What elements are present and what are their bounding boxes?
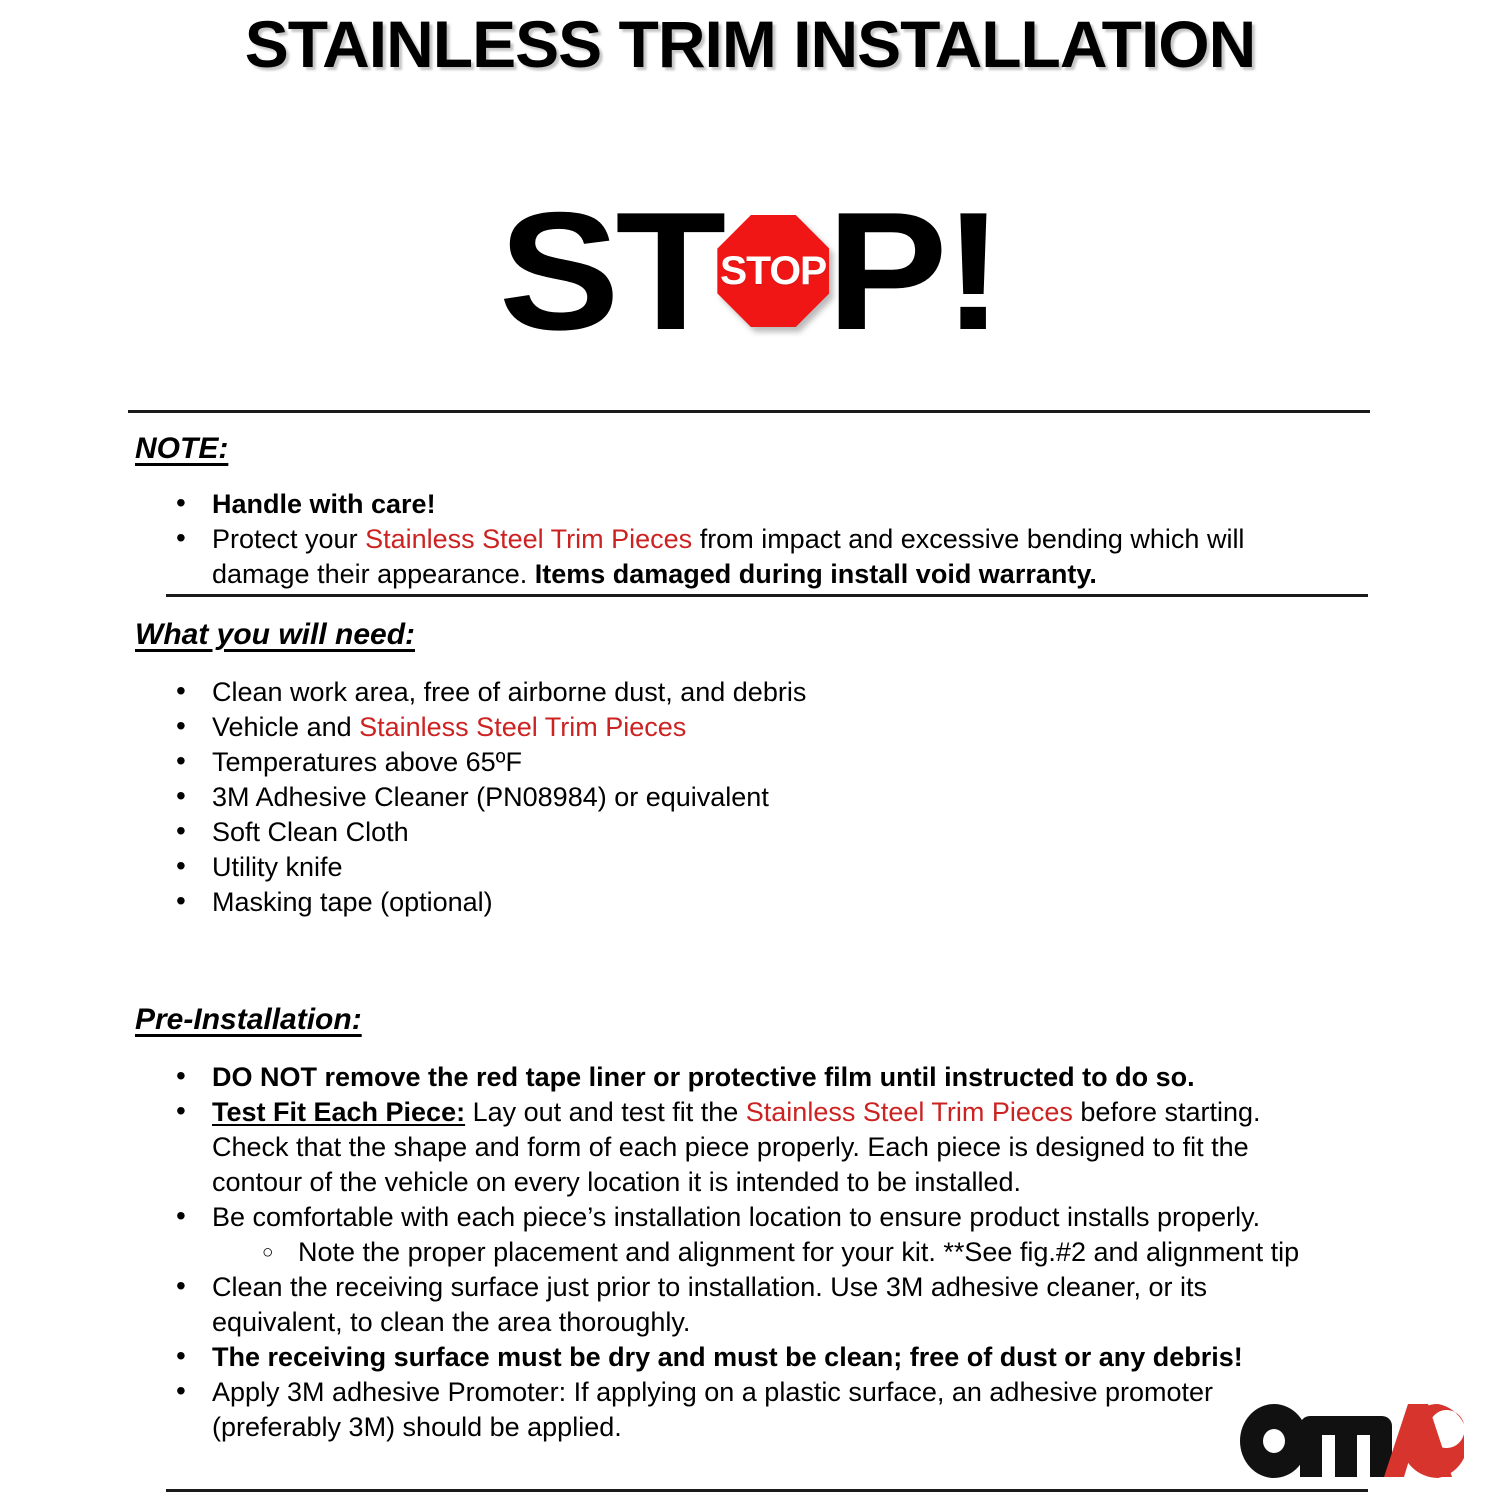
list-item: Vehicle and Stainless Steel Trim Pieces (0, 710, 1340, 745)
note-bullet-list: Handle with care!Protect your Stainless … (0, 487, 1340, 592)
heading-pre-installation: Pre-Installation: (135, 1003, 362, 1037)
highlight-text: Stainless Steel Trim Pieces (365, 524, 692, 554)
list-item: Be comfortable with each piece’s install… (0, 1200, 1340, 1270)
list-item: Handle with care! (0, 487, 1340, 522)
heading-what-you-will-need: What you will need: (135, 618, 415, 652)
list-item: Test Fit Each Piece: Lay out and test fi… (0, 1095, 1340, 1200)
list-item: The receiving surface must be dry and mu… (0, 1340, 1340, 1375)
body-text: Soft Clean Cloth (212, 817, 409, 847)
list-item: Apply 3M adhesive Promoter: If applying … (0, 1375, 1340, 1445)
body-text: Clean the receiving surface just prior t… (212, 1272, 1207, 1337)
list-item: Clean the receiving surface just prior t… (0, 1270, 1340, 1340)
emphasis-text: DO NOT remove the red tape liner or prot… (212, 1062, 1195, 1092)
emphasis-text: Items damaged during install void warran… (535, 559, 1097, 589)
list-item: 3M Adhesive Cleaner (PN08984) or equival… (0, 780, 1340, 815)
needs-bullet-list: Clean work area, free of airborne dust, … (0, 675, 1340, 920)
highlight-text: Stainless Steel Trim Pieces (359, 712, 686, 742)
stop-sign-label: STOP (720, 251, 826, 291)
list-item: DO NOT remove the red tape liner or prot… (0, 1060, 1340, 1095)
body-text: Lay out and test fit the (465, 1097, 746, 1127)
page-title: STAINLESS TRIM INSTALLATION (0, 8, 1500, 81)
divider-bottom (166, 1489, 1368, 1492)
sub-list-item: Note the proper placement and alignment … (212, 1235, 1340, 1270)
divider-note (166, 594, 1368, 597)
heading-note: NOTE: (135, 432, 228, 466)
body-text: Temperatures above 65ºF (212, 747, 522, 777)
emphasis-text: Test Fit Each Piece: (212, 1097, 465, 1127)
emphasis-text: The receiving surface must be dry and mu… (212, 1342, 1243, 1372)
preinstall-bullet-list: DO NOT remove the red tape liner or prot… (0, 1060, 1340, 1445)
body-text: Be comfortable with each piece’s install… (212, 1202, 1260, 1232)
highlight-text: Stainless Steel Trim Pieces (746, 1097, 1073, 1127)
emphasis-text: Handle with care! (212, 489, 436, 519)
list-item: Masking tape (optional) (0, 885, 1340, 920)
sub-bullet-list: Note the proper placement and alignment … (212, 1235, 1340, 1270)
list-item: Clean work area, free of airborne dust, … (0, 675, 1340, 710)
stop-sign-icon: STOP (717, 215, 829, 327)
divider-top (128, 410, 1370, 413)
list-item: Protect your Stainless Steel Trim Pieces… (0, 522, 1340, 592)
list-item: Utility knife (0, 850, 1340, 885)
body-text: Vehicle and (212, 712, 359, 742)
list-item: Soft Clean Cloth (0, 815, 1340, 850)
stop-word-left: ST (498, 187, 721, 355)
body-text: Utility knife (212, 852, 343, 882)
body-text: 3M Adhesive Cleaner (PN08984) or equival… (212, 782, 769, 812)
stop-sign-octagon: STOP (717, 215, 829, 327)
body-text: Clean work area, free of airborne dust, … (212, 677, 806, 707)
body-text: Apply 3M adhesive Promoter: If applying … (212, 1377, 1213, 1442)
body-text: Masking tape (optional) (212, 887, 493, 917)
list-item: Temperatures above 65ºF (0, 745, 1340, 780)
body-text: Protect your (212, 524, 365, 554)
omac-logo (1238, 1402, 1470, 1478)
stop-hero-graphic: ST STOP P! (0, 176, 1500, 366)
stop-word-right: P! (827, 187, 1000, 355)
